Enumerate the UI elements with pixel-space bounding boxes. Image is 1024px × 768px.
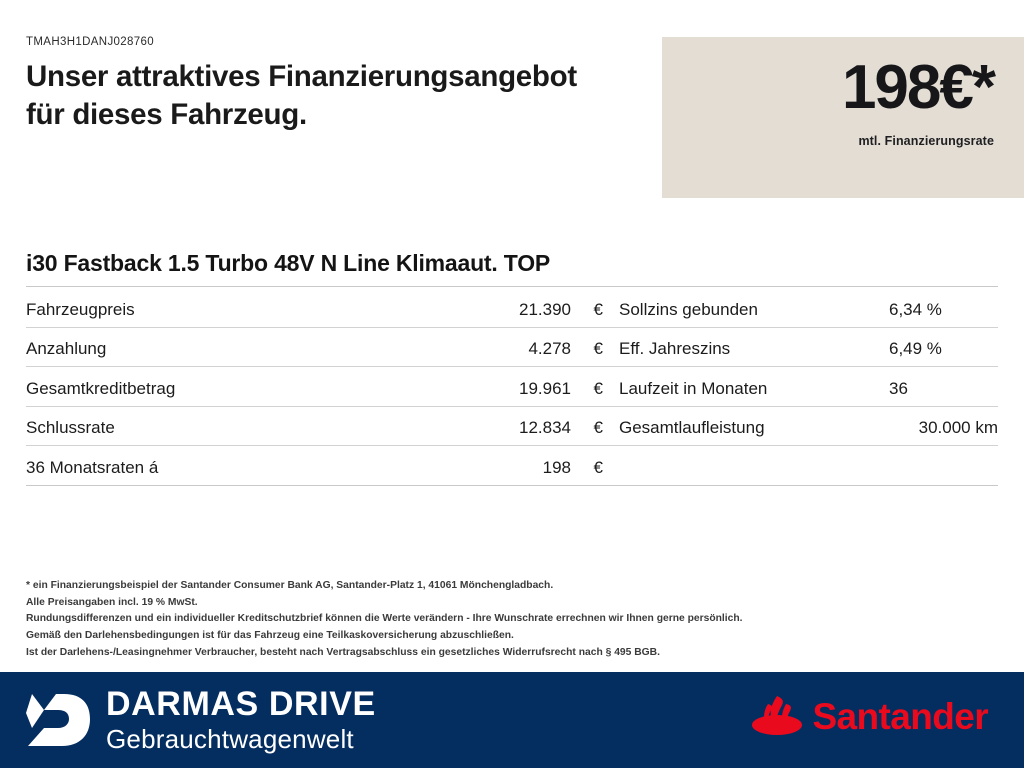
darmas-drive-wordmark: DARMAS DRIVE Gebrauchtwagenwelt xyxy=(106,686,376,755)
row-value: 4.278 xyxy=(441,339,571,366)
row-label-secondary: Gesamtlaufleistung xyxy=(619,418,889,445)
row-value: 21.390 xyxy=(441,300,571,327)
header: TMAH3H1DANJ028760 Unser attraktives Fina… xyxy=(26,36,646,134)
row-label-secondary: Laufzeit in Monaten xyxy=(619,379,889,406)
brand-tagline: Gebrauchtwagenwelt xyxy=(106,725,376,755)
row-value: 198 xyxy=(441,458,571,485)
disclaimer-line-1: * ein Finanzierungsbeispiel der Santande… xyxy=(26,578,986,595)
vehicle-identification-number: TMAH3H1DANJ028760 xyxy=(26,36,646,48)
vehicle-model-title: i30 Fastback 1.5 Turbo 48V N Line Klimaa… xyxy=(26,250,998,287)
monthly-rate-amount: 198€* xyxy=(842,55,994,120)
disclaimer-line-3: Rundungsdifferenzen und ein individuelle… xyxy=(26,611,986,628)
row-value-secondary xyxy=(889,478,998,485)
financing-details-table: Fahrzeugpreis 21.390 € Sollzins gebunden… xyxy=(26,288,998,486)
table-row: Schlussrate 12.834 € Gesamtlaufleistung … xyxy=(26,407,998,447)
row-label: Fahrzeugpreis xyxy=(26,300,441,327)
disclaimer-line-4: Gemäß den Darlehensbedingungen ist für d… xyxy=(26,628,986,645)
row-label-secondary: Eff. Jahreszins xyxy=(619,339,889,366)
table-row: 36 Monatsraten á 198 € xyxy=(26,446,998,486)
row-value-secondary: 30.000 km xyxy=(889,418,998,445)
santander-logo: Santander xyxy=(750,694,988,738)
page-title: Unser attraktives Finanzierungsangebot f… xyxy=(26,58,646,134)
table-row: Gesamtkreditbetrag 19.961 € Laufzeit in … xyxy=(26,367,998,407)
row-label: Gesamtkreditbetrag xyxy=(26,379,441,406)
table-row: Fahrzeugpreis 21.390 € Sollzins gebunden… xyxy=(26,288,998,328)
row-unit: € xyxy=(571,379,619,406)
page-title-line-2: für dieses Fahrzeug. xyxy=(26,96,646,134)
table-row: Anzahlung 4.278 € Eff. Jahreszins 6,49 % xyxy=(26,328,998,368)
row-label: Anzahlung xyxy=(26,339,441,366)
row-label: Schlussrate xyxy=(26,418,441,445)
row-value-secondary: 6,49 % xyxy=(889,339,998,366)
santander-flame-icon xyxy=(750,694,804,738)
row-label-secondary: Sollzins gebunden xyxy=(619,300,889,327)
monthly-rate-box: 198€* mtl. Finanzierungsrate xyxy=(662,37,1024,198)
row-value: 19.961 xyxy=(441,379,571,406)
darmas-drive-logo: DARMAS DRIVE Gebrauchtwagenwelt xyxy=(24,686,376,755)
row-value: 12.834 xyxy=(441,418,571,445)
disclaimer-line-5: Ist der Darlehens-/Leasingnehmer Verbrau… xyxy=(26,645,986,662)
darmas-d-mark-icon xyxy=(24,688,92,752)
row-unit: € xyxy=(571,458,619,485)
row-value-secondary: 36 xyxy=(889,379,998,406)
santander-wordmark: Santander xyxy=(812,698,988,735)
row-unit: € xyxy=(571,418,619,445)
row-unit: € xyxy=(571,300,619,327)
footer-bar: DARMAS DRIVE Gebrauchtwagenwelt Santande… xyxy=(0,672,1024,768)
monthly-rate-caption: mtl. Finanzierungsrate xyxy=(858,134,994,148)
financing-offer-page: TMAH3H1DANJ028760 Unser attraktives Fina… xyxy=(0,0,1024,768)
disclaimer-line-2: Alle Preisangaben incl. 19 % MwSt. xyxy=(26,595,986,612)
page-title-line-1: Unser attraktives Finanzierungsangebot xyxy=(26,60,577,93)
row-label: 36 Monatsraten á xyxy=(26,458,441,485)
row-value-secondary: 6,34 % xyxy=(889,300,998,327)
row-unit: € xyxy=(571,339,619,366)
legal-disclaimer: * ein Finanzierungsbeispiel der Santande… xyxy=(26,578,986,661)
brand-name: DARMAS DRIVE xyxy=(106,686,376,723)
row-label-secondary xyxy=(619,478,889,485)
